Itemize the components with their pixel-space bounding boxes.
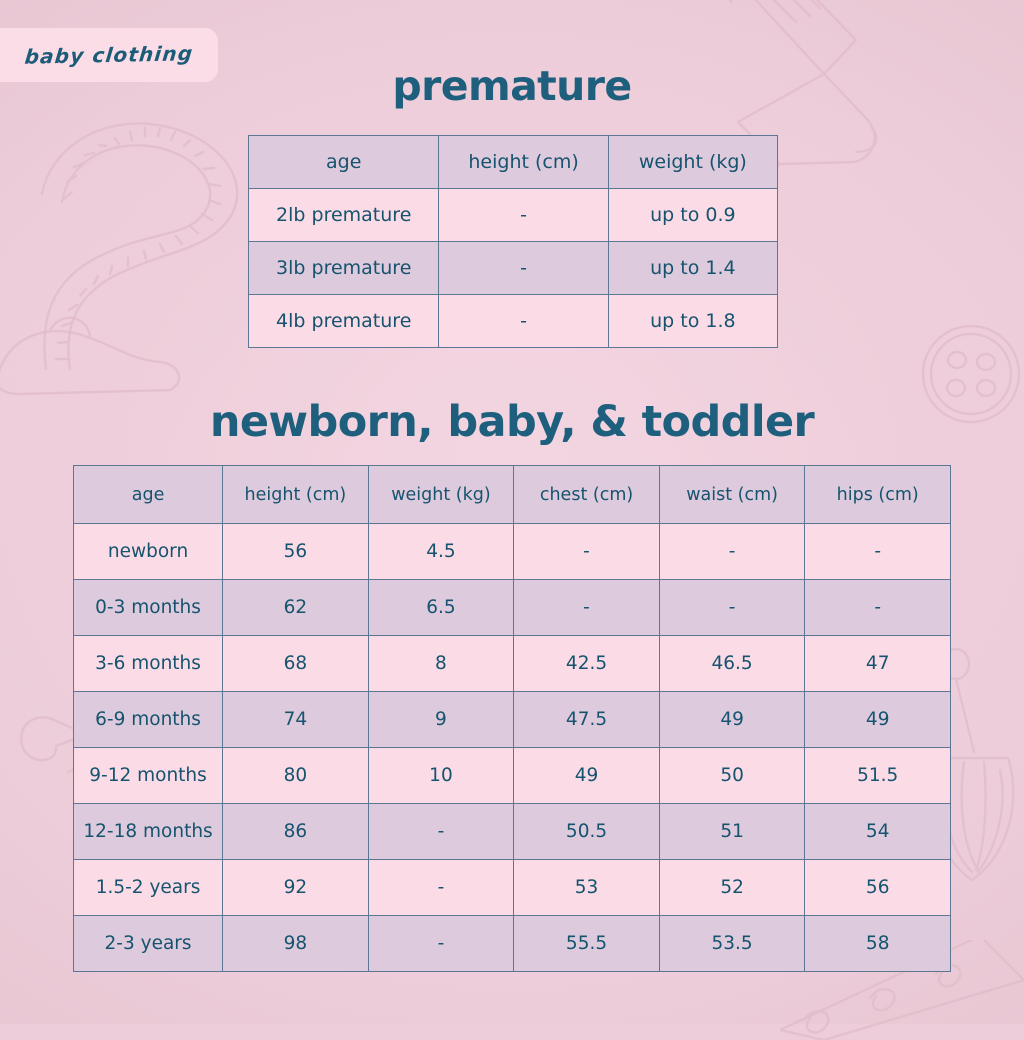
cell-waist: - xyxy=(659,524,805,580)
cell-age: 1.5-2 years xyxy=(74,860,223,916)
cell-chest: 47.5 xyxy=(514,692,660,748)
column-header-age: age xyxy=(249,136,439,189)
cell-waist: 46.5 xyxy=(659,636,805,692)
cell-weight: 8 xyxy=(368,636,514,692)
cell-age: 3-6 months xyxy=(74,636,223,692)
cell-weight: - xyxy=(368,916,514,972)
baby-shoe-doodle xyxy=(0,290,190,410)
table-header-row: age height (cm) weight (kg) chest (cm) w… xyxy=(74,466,951,524)
premature-size-table: age height (cm) weight (kg) 2lb prematur… xyxy=(248,135,778,348)
table-header-row: age height (cm) weight (kg) xyxy=(249,136,778,189)
table-row: 3-6 months 68 8 42.5 46.5 47 xyxy=(74,636,951,692)
column-header-waist: waist (cm) xyxy=(659,466,805,524)
cell-waist: 53.5 xyxy=(659,916,805,972)
cell-weight: - xyxy=(368,860,514,916)
cell-age: 6-9 months xyxy=(74,692,223,748)
column-header-weight: weight (kg) xyxy=(608,136,777,189)
cell-chest: 50.5 xyxy=(514,804,660,860)
table-row: 2-3 years 98 - 55.5 53.5 58 xyxy=(74,916,951,972)
cell-height: - xyxy=(439,295,608,348)
cell-waist: 52 xyxy=(659,860,805,916)
cell-age: 2lb premature xyxy=(249,189,439,242)
cell-height: 80 xyxy=(223,748,369,804)
cell-hips: 51.5 xyxy=(805,748,951,804)
cell-age: 4lb premature xyxy=(249,295,439,348)
cell-chest: 49 xyxy=(514,748,660,804)
column-header-age: age xyxy=(74,466,223,524)
cell-age: 3lb premature xyxy=(249,242,439,295)
cell-chest: 55.5 xyxy=(514,916,660,972)
cell-waist: 49 xyxy=(659,692,805,748)
cell-height: - xyxy=(439,189,608,242)
cell-age: 12-18 months xyxy=(74,804,223,860)
column-header-chest: chest (cm) xyxy=(514,466,660,524)
cell-weight: 10 xyxy=(368,748,514,804)
column-header-hips: hips (cm) xyxy=(805,466,951,524)
table-row: 2lb premature - up to 0.9 xyxy=(249,189,778,242)
cell-weight: 4.5 xyxy=(368,524,514,580)
brand-badge: baby clothing xyxy=(0,28,218,82)
cell-height: 92 xyxy=(223,860,369,916)
measuring-tape-doodle xyxy=(40,70,270,370)
cell-age: 2-3 years xyxy=(74,916,223,972)
cell-hips: 47 xyxy=(805,636,951,692)
cell-age: newborn xyxy=(74,524,223,580)
cell-weight: up to 1.8 xyxy=(608,295,777,348)
table-row: 9-12 months 80 10 49 50 51.5 xyxy=(74,748,951,804)
table-row: newborn 56 4.5 - - - xyxy=(74,524,951,580)
cell-weight: - xyxy=(368,804,514,860)
cell-weight: 9 xyxy=(368,692,514,748)
table-row: 1.5-2 years 92 - 53 52 56 xyxy=(74,860,951,916)
cell-chest: 53 xyxy=(514,860,660,916)
column-header-height: height (cm) xyxy=(439,136,608,189)
cell-hips: 54 xyxy=(805,804,951,860)
cell-height: 56 xyxy=(223,524,369,580)
cell-weight: up to 0.9 xyxy=(608,189,777,242)
cell-height: 86 xyxy=(223,804,369,860)
newborn-section-title: newborn, baby, & toddler xyxy=(0,397,1024,447)
cell-hips: - xyxy=(805,524,951,580)
cell-weight: up to 1.4 xyxy=(608,242,777,295)
table-row: 6-9 months 74 9 47.5 49 49 xyxy=(74,692,951,748)
column-header-height: height (cm) xyxy=(223,466,369,524)
table-row: 12-18 months 86 - 50.5 51 54 xyxy=(74,804,951,860)
cell-hips: 49 xyxy=(805,692,951,748)
cell-hips: 58 xyxy=(805,916,951,972)
cell-hips: 56 xyxy=(805,860,951,916)
cell-age: 0-3 months xyxy=(74,580,223,636)
cell-weight: 6.5 xyxy=(368,580,514,636)
table-row: 4lb premature - up to 1.8 xyxy=(249,295,778,348)
table-row: 3lb premature - up to 1.4 xyxy=(249,242,778,295)
cell-waist: 51 xyxy=(659,804,805,860)
cell-chest: 42.5 xyxy=(514,636,660,692)
newborn-baby-toddler-size-table: age height (cm) weight (kg) chest (cm) w… xyxy=(73,465,951,972)
cell-age: 9-12 months xyxy=(74,748,223,804)
cell-height: 98 xyxy=(223,916,369,972)
cell-height: - xyxy=(439,242,608,295)
cell-waist: - xyxy=(659,580,805,636)
brand-badge-label: baby clothing xyxy=(24,41,195,69)
cell-height: 68 xyxy=(223,636,369,692)
cell-chest: - xyxy=(514,580,660,636)
cell-chest: - xyxy=(514,524,660,580)
table-row: 0-3 months 62 6.5 - - - xyxy=(74,580,951,636)
cell-height: 74 xyxy=(223,692,369,748)
cell-waist: 50 xyxy=(659,748,805,804)
column-header-weight: weight (kg) xyxy=(368,466,514,524)
cell-hips: - xyxy=(805,580,951,636)
cell-height: 62 xyxy=(223,580,369,636)
